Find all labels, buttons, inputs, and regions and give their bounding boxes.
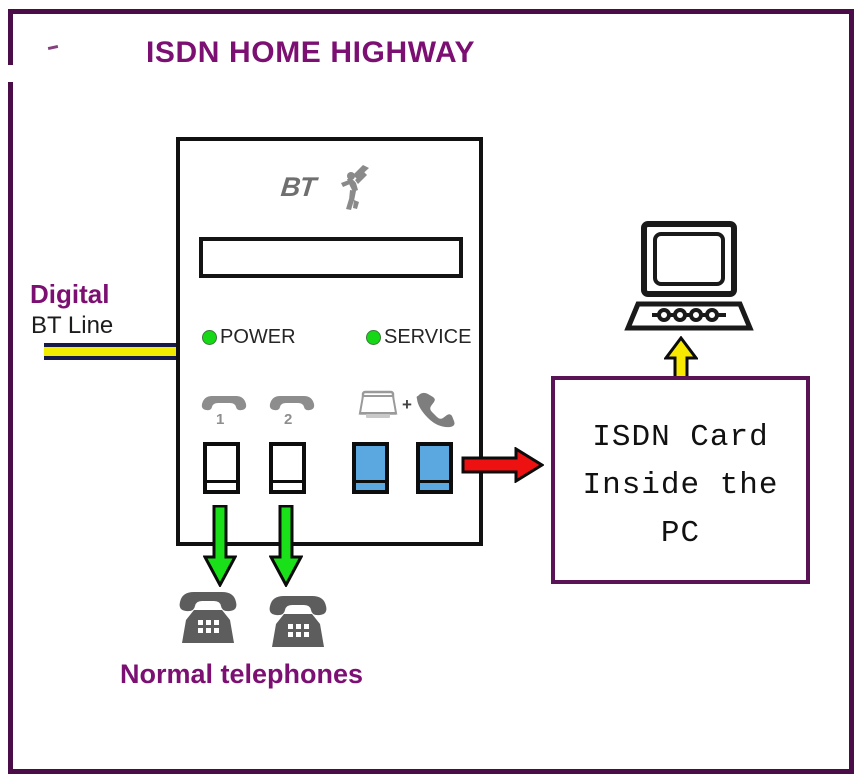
cable-core [44,343,181,360]
isdn-card-line-2: Inside the [555,462,806,510]
phone-line-arrow-1 [203,505,237,587]
port-number-2: 2 [284,411,292,428]
telephone-icon [262,592,334,654]
normal-telephones-label: Normal telephones [120,659,363,690]
svg-text:+: + [402,395,412,414]
frame-border-left-upper [8,9,13,65]
service-led-icon [366,330,381,345]
telephone-icon [172,588,244,650]
isdn-card-text: ISDN Card Inside the PC [555,414,806,558]
modem-display-panel [199,237,463,278]
power-led-label: POWER [220,326,296,349]
port-number-1: 1 [216,411,224,428]
socket-slot [420,480,449,483]
modem-to-card-arrow [461,447,544,483]
bt-wordmark: BT [279,172,316,203]
power-led-icon [202,330,217,345]
data-socket-1[interactable] [352,442,389,494]
isdn-card-line-3: PC [555,510,806,558]
data-socket-2[interactable] [416,442,453,494]
phone-socket-1[interactable] [203,442,240,494]
diagram-canvas: ISDN HOME HIGHWAY Digital BT Line BT POW… [0,0,862,783]
frame-border-top [8,9,854,14]
laptop-plus-handset-icon: + [356,388,456,428]
service-led-label: SERVICE [384,326,471,349]
socket-slot [356,480,385,483]
phone-line-arrow-2 [269,505,303,587]
bt-line-cable [44,343,181,360]
isdn-card-box: ISDN Card Inside the PC [551,376,810,584]
bt-piper-logo-icon: BT [281,163,371,211]
bt-line-label: BT Line [31,312,113,340]
frame-border-bottom [8,769,854,774]
socket-slot [273,480,302,483]
phone-socket-2[interactable] [269,442,306,494]
frame-border-left-lower [8,82,13,774]
socket-slot [207,480,236,483]
digital-line-label: Digital [30,279,109,310]
desktop-computer-icon [622,220,756,336]
isdn-card-line-1: ISDN Card [555,414,806,462]
page-title: ISDN HOME HIGHWAY [146,36,475,70]
frame-border-right [849,9,854,774]
frame-speck-mark [48,45,58,50]
